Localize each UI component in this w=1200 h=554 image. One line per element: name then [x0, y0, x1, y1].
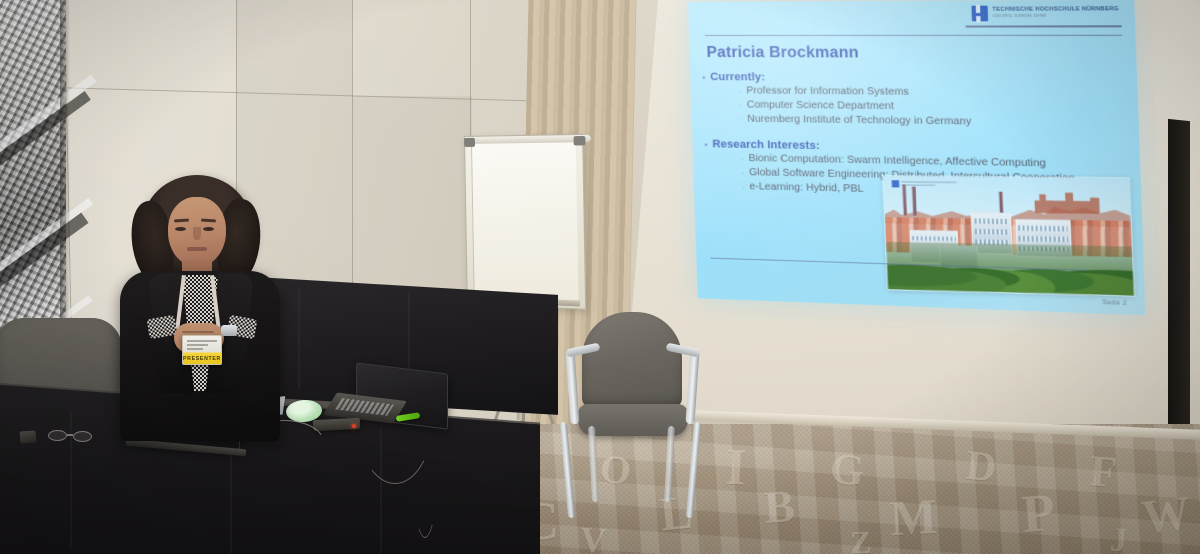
presenter-mouth: [187, 247, 207, 251]
bullet-icon: ▪: [702, 71, 705, 84]
sub-bullet-icon: ·: [739, 99, 742, 112]
chair-backrest: [582, 312, 682, 408]
slide-title: Patricia Brockmann: [706, 44, 859, 63]
university-logo: TECHNISCHE HOCHSCHULE NÜRNBERG GEORG SIM…: [972, 5, 1120, 21]
flipchart-board: [464, 134, 586, 310]
presenter-eye: [203, 227, 214, 231]
slide-page-number: Seite 2: [1102, 299, 1127, 307]
th-logo-icon-small: [892, 180, 900, 187]
sub-bullet-icon: ·: [739, 85, 742, 98]
presenter-badge: PRESENTER: [182, 335, 222, 365]
chair-armrest: [685, 350, 699, 424]
chair-right: [556, 312, 708, 524]
conference-room-photo: TECHNISCHE HOCHSCHULE NÜRNBERG GEORG SIM…: [0, 0, 1200, 554]
presenter-nose: [193, 227, 201, 240]
sub-bullet-icon: ·: [741, 153, 744, 166]
chair-leg: [560, 422, 575, 518]
presenter: PRESENTER: [108, 175, 298, 435]
bullet-text: Computer Science Department: [747, 99, 895, 112]
slide-rule-top: [966, 25, 1122, 27]
bullet-icon: ▪: [704, 138, 707, 151]
usb-hub-led-icon: [352, 424, 356, 428]
flipchart-paper: [471, 141, 579, 304]
flipchart-clip: [574, 136, 586, 146]
screen-right-edge: [1168, 119, 1190, 441]
bullet-text: Nuremberg Institute of Technology in Ger…: [747, 114, 972, 128]
wall-panel: [352, 96, 472, 306]
chair-leg: [664, 426, 675, 502]
chair-armrest: [565, 350, 579, 424]
chair-leg: [588, 426, 599, 502]
bullet-text: Professor for Information Systems: [746, 85, 909, 97]
presenter-eye: [175, 227, 186, 231]
campus-photo: [882, 175, 1135, 297]
sub-bullet-icon: ·: [740, 114, 743, 127]
small-desk-object: [20, 430, 37, 443]
presenter-wristwatch: [221, 325, 237, 336]
eyeglasses: [48, 430, 94, 443]
badge-role-label: PRESENTER: [183, 353, 221, 364]
heading-text: Research Interests:: [712, 138, 820, 152]
campus-photo-logo: [892, 180, 957, 188]
sub-bullet-icon: ·: [741, 167, 744, 180]
chair-leg: [686, 422, 701, 518]
laptop-keyboard[interactable]: [335, 398, 394, 416]
sub-bullet-icon: ·: [742, 181, 745, 194]
slide-rule-header: [705, 35, 1122, 37]
th-nuernberg-logo-icon: [972, 6, 989, 22]
badge-name-lines: [187, 340, 217, 352]
bullet-text: e-Learning: Hybrid, PBL: [749, 181, 863, 195]
projected-slide: TECHNISCHE HOCHSCHULE NÜRNBERG GEORG SIM…: [688, 0, 1145, 315]
flipchart-clip: [464, 138, 475, 147]
logo-line-2: GEORG SIMON OHM: [993, 13, 1120, 18]
heading-text: Currently:: [710, 71, 765, 83]
